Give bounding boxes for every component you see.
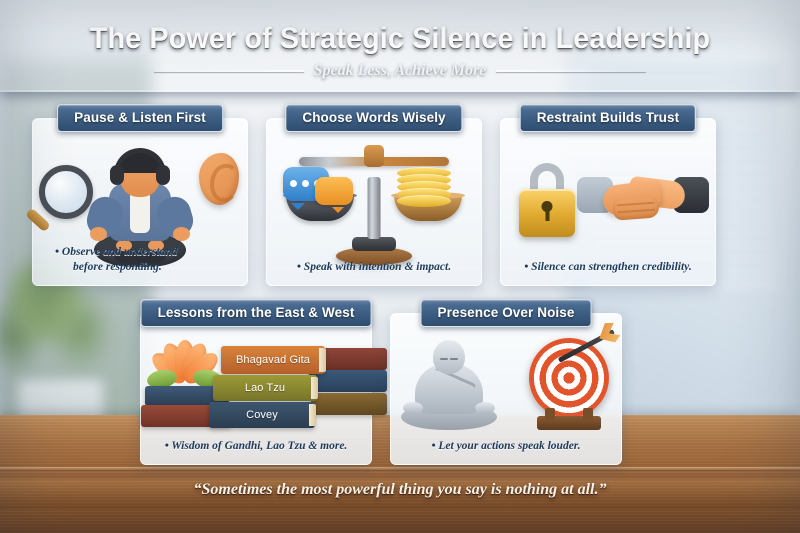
header-subtitle-row: Speak Less, Achieve More: [0, 62, 800, 80]
card-caption-line-1: • Observe and understand: [55, 246, 178, 258]
book-label: Bhagavad Gita: [236, 354, 310, 366]
card-illustration-restraint-trust: [501, 139, 715, 249]
card-title-ribbon: Presence Over Noise: [421, 299, 592, 327]
target-with-arrow-icon: [529, 338, 615, 430]
card-title-ribbon: Lessons from the East & West: [141, 299, 372, 327]
card-caption: • Let your actions speak louder.: [397, 439, 615, 455]
card-caption: • Wisdom of Gandhi, Lao Tzu & more.: [147, 439, 365, 455]
balance-scale-icon: [289, 143, 459, 265]
card-presence-over-noise[interactable]: Presence Over Noise • Let your actions s…: [390, 313, 622, 465]
padlock-icon: [519, 163, 575, 237]
card-choose-words-wisely[interactable]: Choose Words Wisely: [266, 118, 482, 286]
card-caption: • Speak with intention & impact.: [273, 260, 475, 276]
card-lessons-east-and-west[interactable]: Lessons from the East & West Bhagavad Gi…: [140, 313, 372, 465]
card-title-ribbon: Pause & Listen First: [57, 104, 223, 132]
infographic-canvas: The Power of Strategic Silence in Leader…: [0, 0, 800, 533]
book-covey: Covey: [209, 402, 315, 428]
card-illustration-choose-words: [267, 139, 481, 249]
divider-right: [496, 70, 646, 72]
magnifying-glass-icon: [39, 165, 93, 219]
card-title-ribbon: Choose Words Wisely: [285, 104, 462, 132]
card-illustration-presence: [391, 334, 621, 428]
card-illustration-pause-listen: [33, 139, 247, 249]
page-title: The Power of Strategic Silence in Leader…: [16, 22, 784, 56]
card-illustration-lessons: Bhagavad Gita Lao Tzu Covey: [141, 334, 371, 428]
book-label: Covey: [246, 409, 278, 421]
gold-coins-icon: [397, 167, 451, 207]
book-decorative: [311, 393, 387, 415]
divider-left: [154, 70, 304, 72]
quote-text: “Sometimes the most powerful thing you s…: [194, 481, 607, 499]
card-title-ribbon: Restraint Builds Trust: [520, 104, 696, 132]
book-label: Lao Tzu: [245, 382, 285, 394]
quote-banner: “Sometimes the most powerful thing you s…: [0, 471, 800, 509]
ear-icon: [199, 153, 239, 205]
card-restraint-builds-trust[interactable]: Restraint Builds Trust • Silence can str…: [500, 118, 716, 286]
header-banner: The Power of Strategic Silence in Leader…: [0, 0, 800, 92]
book-stack-icon: Bhagavad Gita Lao Tzu Covey: [141, 334, 371, 428]
card-caption: • Observe and understand before respondi…: [39, 245, 241, 276]
card-caption-line-2: before responding.: [55, 260, 241, 276]
card-pause-and-listen-first[interactable]: Pause & Listen First: [32, 118, 248, 286]
page-subtitle: Speak Less, Achieve More: [314, 62, 487, 80]
meditating-monk-statue-icon: [401, 338, 497, 430]
card-caption: • Silence can strengthen credibility.: [507, 260, 709, 276]
book-lao-tzu: Lao Tzu: [213, 375, 317, 401]
book-bhagavad-gita: Bhagavad Gita: [221, 346, 325, 374]
handshake-icon: [577, 169, 709, 233]
speech-bubble-secondary-icon: [315, 177, 353, 205]
